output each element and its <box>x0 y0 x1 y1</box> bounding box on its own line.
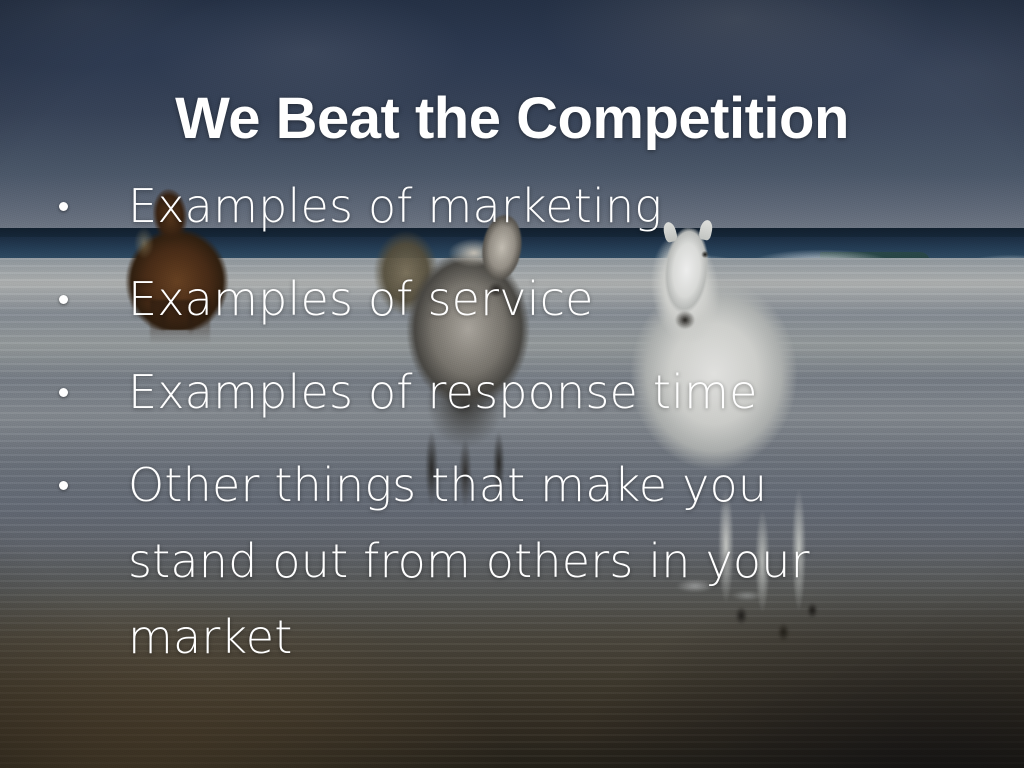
bullet-text-2: Examples of service <box>128 272 594 326</box>
bullet-dot-icon <box>59 481 68 490</box>
bullet-text-4: Other things that make you stand out fro… <box>128 458 810 664</box>
bullet-text-1: Examples of marketing <box>128 179 662 233</box>
bullet-item-1: Examples of marketing <box>46 168 984 244</box>
bullet-text-3: Examples of response time <box>128 365 758 419</box>
bullet-dot-icon <box>59 295 68 304</box>
slide-title: We Beat the Competition <box>0 87 1024 151</box>
slide-content: We Beat the Competition Examples of mark… <box>0 0 1024 768</box>
bullet-item-2: Examples of service <box>46 261 984 337</box>
bullet-item-3: Examples of response time <box>46 354 984 430</box>
presentation-slide: We Beat the Competition Examples of mark… <box>0 0 1024 768</box>
bullet-dot-icon <box>59 202 68 211</box>
bullet-item-4: Other things that make you stand out fro… <box>46 447 828 675</box>
bullet-list: Examples of marketing Examples of servic… <box>46 168 984 692</box>
bullet-dot-icon <box>59 388 68 397</box>
